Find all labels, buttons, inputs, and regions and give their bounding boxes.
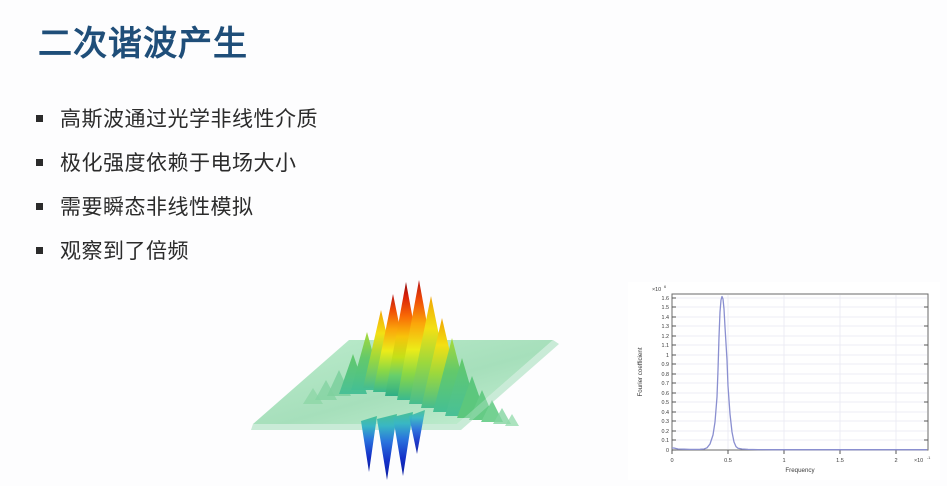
chart-x-ticks xyxy=(672,450,896,454)
svg-text:1.1: 1.1 xyxy=(662,343,670,349)
list-item: 极化强度依赖于电场大小 xyxy=(36,140,556,184)
svg-text:0.9: 0.9 xyxy=(662,362,670,368)
bullet-square-icon xyxy=(36,247,43,254)
svg-text:0.7: 0.7 xyxy=(662,381,670,387)
list-item-label: 需要瞬态非线性模拟 xyxy=(60,191,254,221)
chart-x-tick-labels: 0 0.5 1 1.5 2 xyxy=(670,458,897,464)
svg-text:×10: ×10 xyxy=(914,458,923,464)
bullet-list: 高斯波通过光学非线性介质 极化强度依赖于电场大小 需要瞬态非线性模拟 观察到了倍… xyxy=(36,96,556,272)
list-item: 需要瞬态非线性模拟 xyxy=(36,184,556,228)
svg-text:1.2: 1.2 xyxy=(662,334,670,340)
svg-text:0: 0 xyxy=(670,458,673,464)
bullet-square-icon xyxy=(36,203,43,210)
chart-y-axis-label: Fourier coefficient xyxy=(637,347,644,396)
svg-text:0.1: 0.1 xyxy=(662,438,670,444)
fourier-spectrum-chart: 0 0.1 0.2 0.3 0.4 0.5 0.6 0.7 0.8 0.9 1 … xyxy=(628,282,940,480)
list-item-label: 高斯波通过光学非线性介质 xyxy=(60,103,318,133)
svg-text:-1: -1 xyxy=(927,456,930,460)
svg-text:0.8: 0.8 xyxy=(662,372,670,378)
svg-text:6: 6 xyxy=(664,285,666,289)
svg-text:0.6: 0.6 xyxy=(662,391,670,397)
chart-x-multiplier: ×10 -1 xyxy=(914,456,930,464)
chart-x-axis-label: Frequency xyxy=(785,467,815,474)
svg-text:0.3: 0.3 xyxy=(662,419,670,425)
svg-text:×10: ×10 xyxy=(652,287,661,293)
svg-text:2: 2 xyxy=(894,458,897,464)
list-item-label: 极化强度依赖于电场大小 xyxy=(60,147,297,177)
svg-text:1.4: 1.4 xyxy=(662,315,670,321)
list-item: 观察到了倍频 xyxy=(36,228,556,272)
svg-text:0.2: 0.2 xyxy=(662,429,670,435)
list-item-label: 观察到了倍频 xyxy=(60,235,189,265)
bullet-square-icon xyxy=(36,159,43,166)
svg-text:1: 1 xyxy=(782,458,785,464)
page-title: 二次谐波产生 xyxy=(38,16,248,65)
svg-text:1.6: 1.6 xyxy=(662,296,670,302)
bullet-square-icon xyxy=(36,115,43,122)
presentation-slide: 二次谐波产生 高斯波通过光学非线性介质 极化强度依赖于电场大小 需要瞬态非线性模… xyxy=(0,0,947,486)
svg-text:0: 0 xyxy=(666,448,669,454)
list-item: 高斯波通过光学非线性介质 xyxy=(36,96,556,140)
svg-text:0.5: 0.5 xyxy=(662,400,670,406)
chart-y-tick-labels: 0 0.1 0.2 0.3 0.4 0.5 0.6 0.7 0.8 0.9 1 … xyxy=(662,296,670,454)
surface-plot-figure xyxy=(243,276,563,486)
svg-text:1.5: 1.5 xyxy=(662,305,670,311)
svg-text:0.5: 0.5 xyxy=(724,458,732,464)
svg-text:1: 1 xyxy=(666,353,669,359)
surface-blue-troughs xyxy=(361,410,425,480)
svg-text:1.3: 1.3 xyxy=(662,324,670,330)
svg-text:1.5: 1.5 xyxy=(836,458,844,464)
svg-text:0.4: 0.4 xyxy=(662,410,670,416)
chart-y-multiplier: ×10 6 xyxy=(652,285,666,293)
